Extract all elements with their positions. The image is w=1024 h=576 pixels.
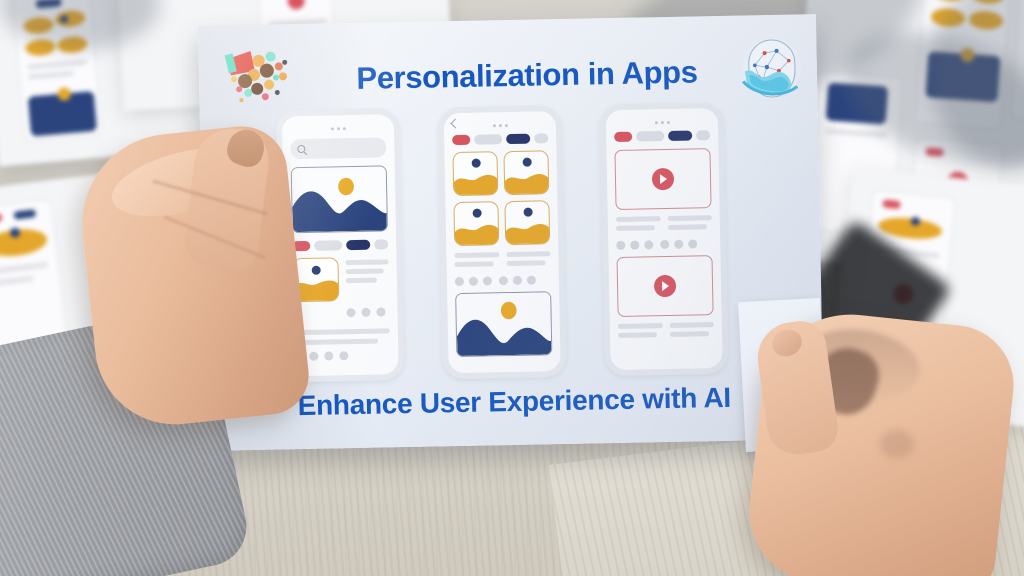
mountain-sun-illustration xyxy=(456,292,551,356)
megaphone-icon xyxy=(220,44,303,108)
status-dots-icon xyxy=(654,120,669,123)
play-icon[interactable] xyxy=(652,168,674,190)
status-bar xyxy=(290,121,386,133)
ai-brain-logo-icon xyxy=(738,36,805,99)
tile-grid[interactable] xyxy=(452,150,550,246)
dot-row xyxy=(346,307,389,317)
image-placeholder-icon[interactable] xyxy=(503,150,549,195)
list-item[interactable] xyxy=(292,256,389,302)
hero-image[interactable] xyxy=(291,165,388,233)
video-card[interactable] xyxy=(616,255,713,317)
video-card[interactable] xyxy=(614,148,711,210)
hero-image[interactable] xyxy=(455,291,552,357)
chip-selected[interactable] xyxy=(507,134,530,144)
mockup-video-list-screen[interactable] xyxy=(600,102,729,376)
chip[interactable] xyxy=(374,239,388,249)
text-lines xyxy=(616,215,712,231)
chip-active[interactable] xyxy=(452,135,470,145)
status-dots-icon xyxy=(330,127,345,130)
chip-selected[interactable] xyxy=(669,131,692,141)
page-title: Personalization in Apps xyxy=(317,56,738,95)
dot-row xyxy=(455,269,551,286)
text-lines xyxy=(618,322,714,338)
chip-selected[interactable] xyxy=(347,240,370,250)
chip[interactable] xyxy=(636,131,665,142)
chip[interactable] xyxy=(534,133,548,143)
dot-row xyxy=(294,350,390,361)
status-bar xyxy=(452,118,548,130)
image-placeholder-icon[interactable] xyxy=(453,201,499,246)
text-lines xyxy=(294,325,390,345)
status-bar xyxy=(614,115,710,127)
back-chevron-icon[interactable] xyxy=(450,119,460,129)
mountain-sun-illustration xyxy=(292,166,387,232)
right-hand-highlight xyxy=(880,430,914,458)
text-lines xyxy=(454,251,550,267)
play-icon[interactable] xyxy=(654,275,676,297)
chip[interactable] xyxy=(474,134,503,145)
image-placeholder-icon[interactable] xyxy=(452,151,498,196)
dot-row xyxy=(616,233,712,250)
search-icon xyxy=(297,145,305,153)
chip[interactable] xyxy=(314,240,343,251)
status-dots-icon xyxy=(492,124,507,127)
text-lines xyxy=(345,256,389,301)
scene: Personalization in Apps Enhance User Exp… xyxy=(0,0,1024,576)
filter-chip-row[interactable] xyxy=(452,133,548,145)
page-subtitle: Enhance User Experience with AI xyxy=(221,382,807,421)
mockup-gallery-grid-screen[interactable] xyxy=(438,105,567,379)
chip-active[interactable] xyxy=(614,132,632,142)
chip[interactable] xyxy=(696,130,710,140)
filter-chip-row[interactable] xyxy=(292,239,388,251)
search-input[interactable] xyxy=(290,137,386,159)
image-placeholder-icon[interactable] xyxy=(504,200,550,245)
filter-chip-row[interactable] xyxy=(614,130,710,142)
